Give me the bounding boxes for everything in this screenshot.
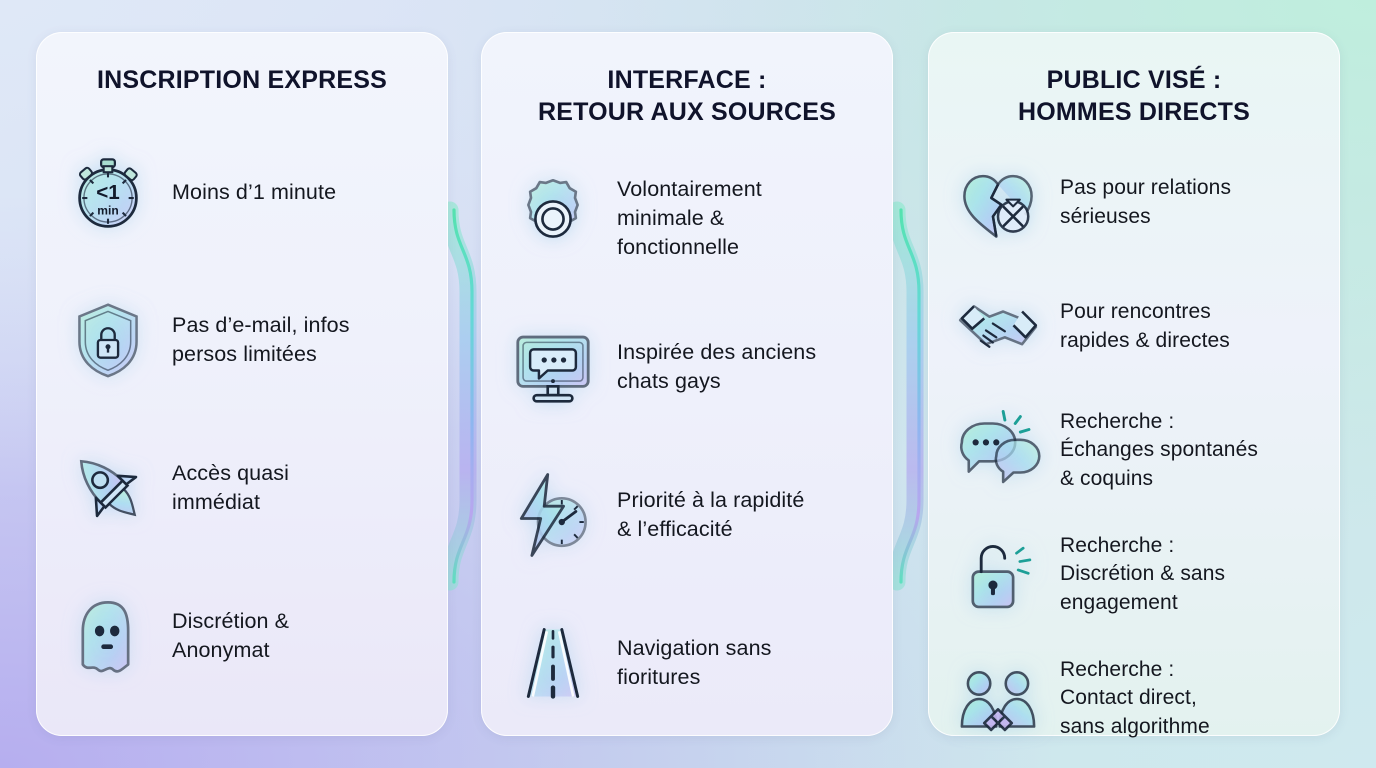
list-item-label: Navigation sans fioritures (617, 634, 771, 692)
speech-bubbles-icon (954, 407, 1042, 495)
stopwatch-secondary-text: min (97, 204, 118, 218)
list-item-label: Recherche : Discrétion & sans engagement (1060, 532, 1225, 616)
feature-list: Pas pour relations sérieuses (954, 135, 1314, 761)
broken-heart-no-ring-icon (954, 159, 1042, 247)
list-item: Pas d’e-mail, infos persos limitées (62, 266, 422, 414)
list-item-label: Pas pour relations sérieuses (1060, 174, 1231, 230)
list-item-label: Priorité à la rapidité & l’efficacité (617, 486, 804, 544)
infographic-board: INSCRIPTION EXPRESS (0, 0, 1376, 768)
card-title: INSCRIPTION EXPRESS (62, 64, 422, 96)
list-item: Recherche : Discrétion & sans engagement (954, 513, 1314, 637)
bolt-speedometer-icon (507, 469, 599, 561)
feature-list: <1 min Moins d’1 minute (62, 102, 422, 716)
list-item-label: Volontairement minimale & fonctionnelle (617, 175, 762, 261)
card-interface-retour-aux-sources: INTERFACE : RETOUR AUX SOURCES Volontair… (481, 32, 893, 736)
rocket-icon (62, 442, 154, 534)
ghost-icon (62, 590, 154, 682)
monitor-chat-icon (507, 321, 599, 413)
list-item: Pas pour relations sérieuses (954, 141, 1314, 265)
card-title: INTERFACE : RETOUR AUX SOURCES (507, 64, 867, 129)
list-item-label: Pas d’e-mail, infos persos limitées (172, 311, 350, 369)
stopwatch-icon: <1 min (62, 146, 154, 238)
list-item-label: Discrétion & Anonymat (172, 607, 289, 665)
list-item: Recherche : Échanges spontanés & coquins (954, 389, 1314, 513)
list-item: Volontairement minimale & fonctionnelle (507, 145, 867, 293)
gear-icon (507, 173, 599, 265)
list-item: Priorité à la rapidité & l’efficacité (507, 441, 867, 589)
card-inscription-express: INSCRIPTION EXPRESS (36, 32, 448, 736)
list-item: Inspirée des anciens chats gays (507, 293, 867, 441)
list-item-label: Accès quasi immédiat (172, 459, 289, 517)
card-title: PUBLIC VISÉ : HOMMES DIRECTS (954, 64, 1314, 129)
shield-lock-icon (62, 294, 154, 386)
list-item: Pour rencontres rapides & directes (954, 265, 1314, 389)
road-icon (507, 617, 599, 709)
two-people-no-match-icon (954, 655, 1042, 743)
list-item: <1 min Moins d’1 minute (62, 118, 422, 266)
feature-list: Volontairement minimale & fonctionnelle (507, 135, 867, 737)
list-item-label: Recherche : Échanges spontanés & coquins (1060, 408, 1258, 492)
list-item: Discrétion & Anonymat (62, 562, 422, 710)
list-item-label: Moins d’1 minute (172, 178, 336, 207)
list-item: Recherche : Contact direct, sans algorit… (954, 637, 1314, 761)
list-item-label: Pour rencontres rapides & directes (1060, 298, 1230, 354)
handshake-icon (954, 283, 1042, 371)
card-public-vise-hommes-directs: PUBLIC VISÉ : HOMMES DIRECTS Pas pour re… (928, 32, 1340, 736)
list-item-label: Recherche : Contact direct, sans algorit… (1060, 656, 1210, 740)
open-padlock-icon (954, 531, 1042, 619)
list-item: Navigation sans fioritures (507, 589, 867, 737)
stopwatch-primary-text: <1 (96, 181, 120, 204)
list-item-label: Inspirée des anciens chats gays (617, 338, 816, 396)
list-item: Accès quasi immédiat (62, 414, 422, 562)
